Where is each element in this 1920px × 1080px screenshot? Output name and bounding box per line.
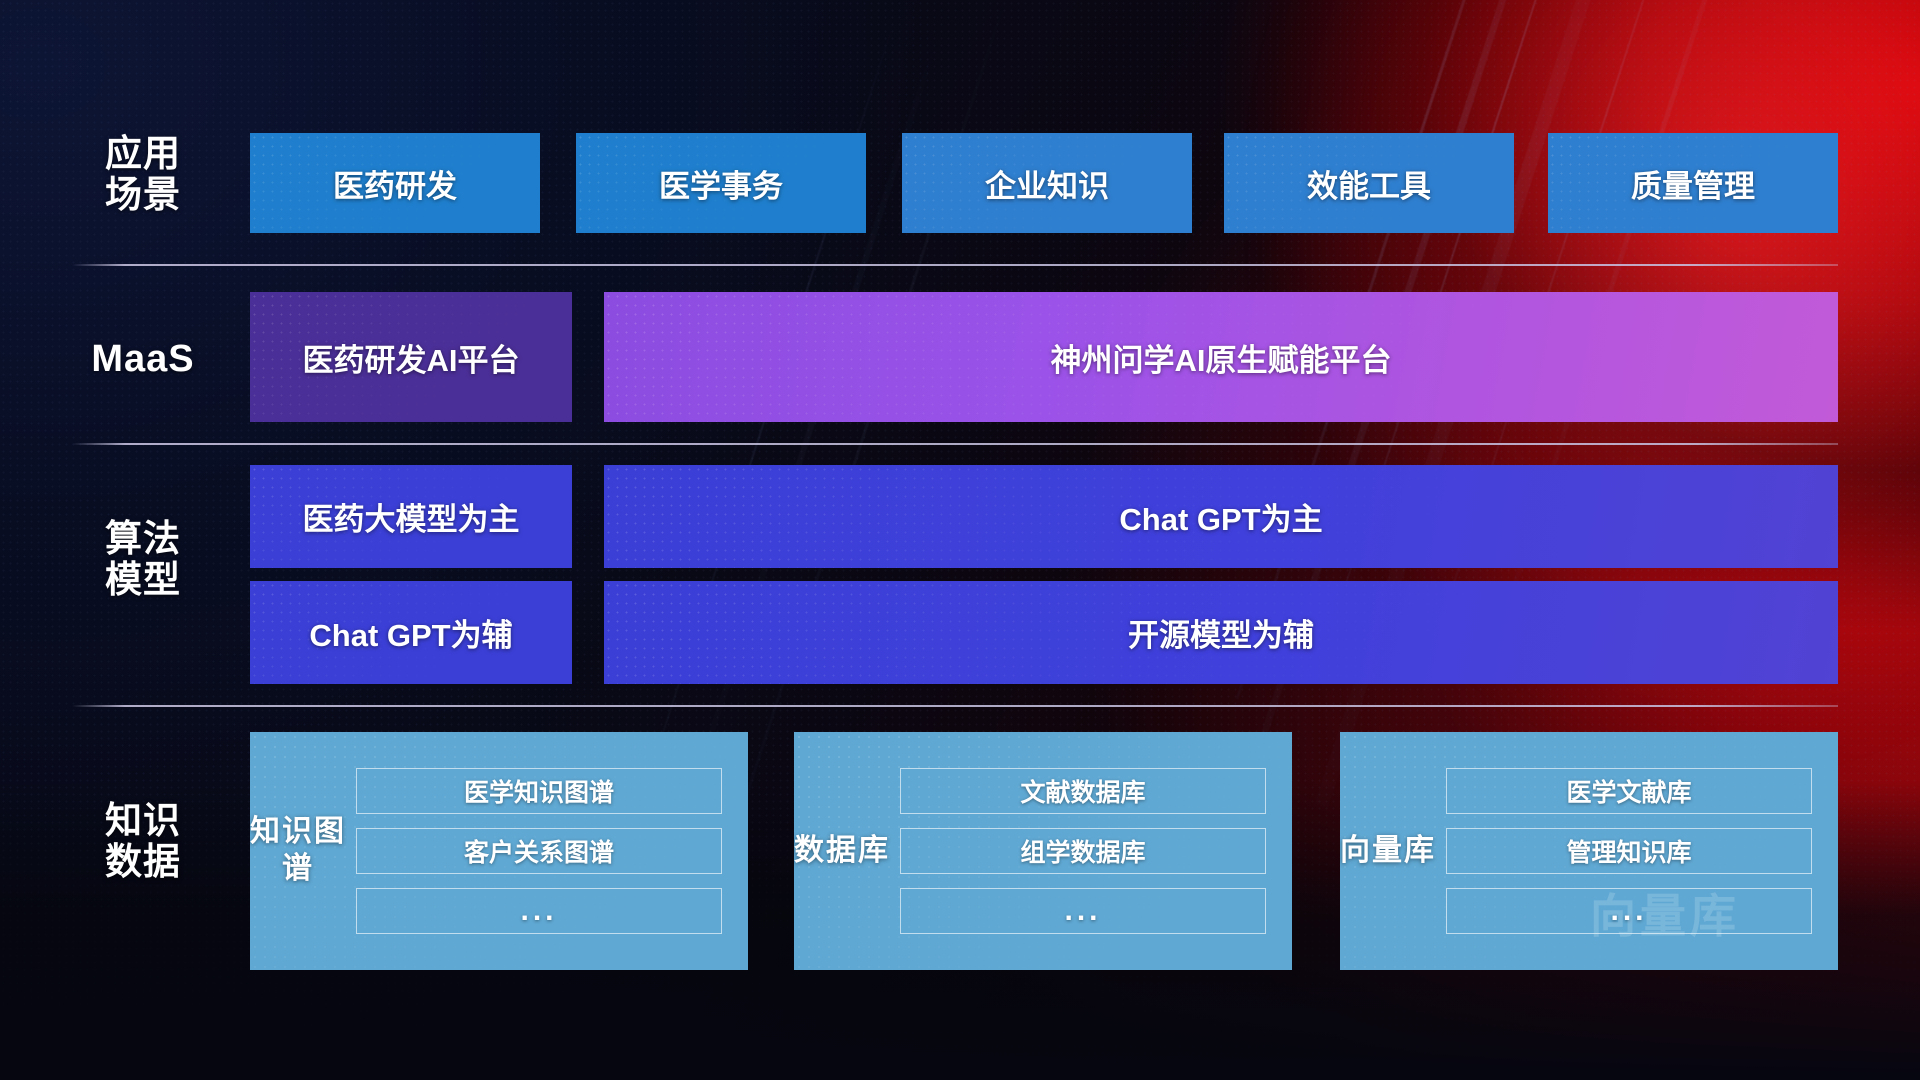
knowledge-panel-vector-title: 向量库 [1340,732,1436,970]
knowledge-panel-database-items: 文献数据库 组学数据库 ... [890,732,1292,970]
row-label-maas: MaaS [78,338,208,381]
algo-chip-chatgpt-secondary[interactable]: Chat GPT为辅 [250,581,572,684]
algo-chip-chatgpt-secondary-label: Chat GPT为辅 [309,610,512,655]
knowledge-panel-graph[interactable]: 知识图谱 医学知识图谱 客户关系图谱 ... [250,732,748,970]
algo-chip-chatgpt-primary[interactable]: Chat GPT为主 [604,465,1838,568]
maas-chip-pharma-ai-platform[interactable]: 医药研发AI平台 [250,292,572,422]
knowledge-item-medical-literature[interactable]: 医学文献库 [1446,768,1812,814]
knowledge-item-management-knowledge[interactable]: 管理知识库 [1446,828,1812,874]
divider-algorithm-knowledge [72,705,1838,707]
app-chip-medical-affairs-label: 医学事务 [659,161,783,206]
knowledge-item-vector-more[interactable]: ... [1446,888,1812,934]
knowledge-item-literature-db[interactable]: 文献数据库 [900,768,1266,814]
knowledge-panel-vector[interactable]: 向量库 医学文献库 管理知识库 ... 向量库 [1340,732,1838,970]
knowledge-panel-database[interactable]: 数据库 文献数据库 组学数据库 ... [794,732,1292,970]
knowledge-item-medical-graph[interactable]: 医学知识图谱 [356,768,722,814]
knowledge-item-database-more[interactable]: ... [900,888,1266,934]
row-label-knowledge: 知识 数据 [78,800,208,883]
algo-chip-chatgpt-primary-label: Chat GPT为主 [1119,494,1322,539]
algo-chip-pharma-llm-primary-label: 医药大模型为主 [303,494,520,539]
divider-maas-algorithm [72,443,1838,445]
row-label-application: 应用 场景 [78,133,208,216]
maas-chip-pharma-ai-platform-label: 医药研发AI平台 [303,335,520,380]
algo-chip-open-source-secondary[interactable]: 开源模型为辅 [604,581,1838,684]
app-chip-quality-management-label: 质量管理 [1631,161,1755,206]
app-chip-quality-management[interactable]: 质量管理 [1548,133,1838,233]
app-chip-rd[interactable]: 医药研发 [250,133,540,233]
maas-chip-shenzhou-wenxue-platform[interactable]: 神州问学AI原生赋能平台 [604,292,1838,422]
knowledge-panel-graph-items: 医学知识图谱 客户关系图谱 ... [346,732,748,970]
architecture-diagram: 应用 场景 医药研发 医学事务 企业知识 效能工具 质量管理 MaaS 医药研发… [0,0,1920,1080]
app-chip-enterprise-knowledge-label: 企业知识 [985,161,1109,206]
row-label-algorithm: 算法 模型 [78,518,208,601]
maas-chip-shenzhou-wenxue-platform-label: 神州问学AI原生赋能平台 [1051,335,1392,380]
app-chip-efficiency-tools[interactable]: 效能工具 [1224,133,1514,233]
algo-chip-pharma-llm-primary[interactable]: 医药大模型为主 [250,465,572,568]
algo-chip-open-source-secondary-label: 开源模型为辅 [1128,610,1314,655]
app-chip-efficiency-tools-label: 效能工具 [1307,161,1431,206]
divider-application-maas [72,264,1838,266]
knowledge-item-omics-db[interactable]: 组学数据库 [900,828,1266,874]
knowledge-item-graph-more[interactable]: ... [356,888,722,934]
knowledge-panel-database-title: 数据库 [794,732,890,970]
app-chip-medical-affairs[interactable]: 医学事务 [576,133,866,233]
knowledge-item-customer-graph[interactable]: 客户关系图谱 [356,828,722,874]
app-chip-enterprise-knowledge[interactable]: 企业知识 [902,133,1192,233]
app-chip-rd-label: 医药研发 [333,161,457,206]
knowledge-panel-vector-items: 医学文献库 管理知识库 ... [1436,732,1838,970]
knowledge-panel-graph-title: 知识图谱 [250,732,346,970]
